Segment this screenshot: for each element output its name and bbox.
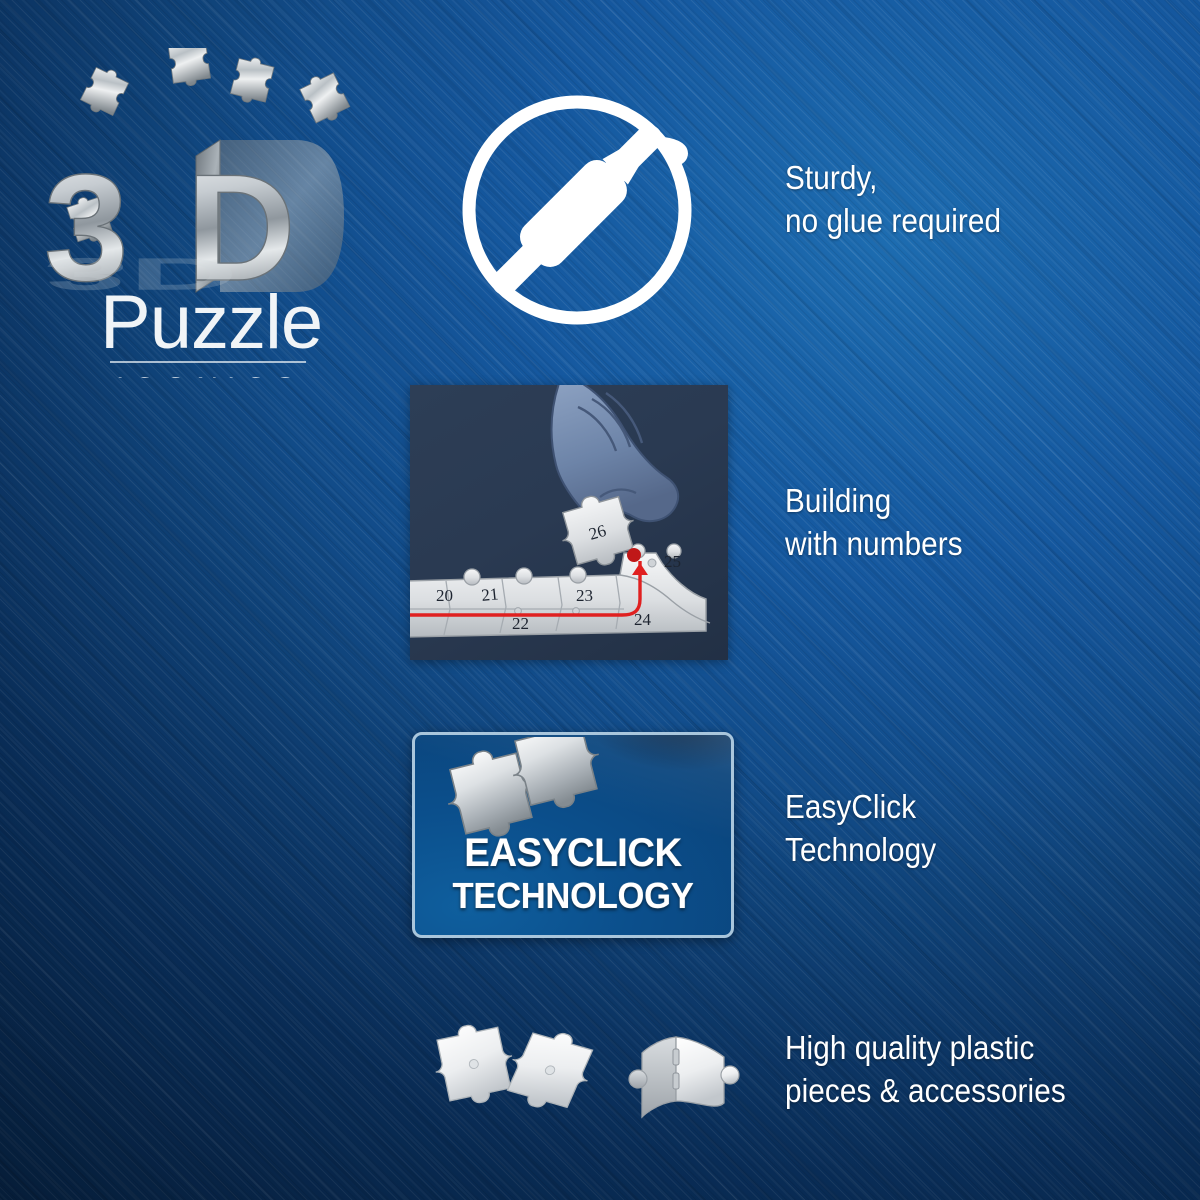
piece-number: 21 — [480, 584, 499, 605]
piece-number: 24 — [634, 610, 652, 629]
easyclick-line2: TECHNOLOGY — [421, 875, 724, 917]
label-easyclick: EasyClick Technology — [785, 786, 953, 872]
easyclick-line1: EASYCLICK — [421, 831, 724, 876]
logo-puzzle-piece — [229, 54, 275, 106]
label-no-glue: Sturdy, no glue required — [785, 157, 1025, 243]
3d-puzzle-iconics-logo: 3 D 3D Puzzle ICONICS — [38, 48, 368, 378]
piece-number: 25 — [664, 552, 681, 571]
building-with-numbers-image: 26 — [410, 385, 728, 660]
label-high-quality-pieces: High quality plastic pieces & accessorie… — [785, 1027, 1097, 1113]
logo-iconics-word: ICONICS — [116, 372, 304, 378]
logo-puzzle-piece — [298, 69, 352, 128]
plastic-pieces-icon — [400, 1005, 740, 1125]
piece-number: 20 — [436, 586, 453, 605]
no-glue-icon — [455, 88, 700, 338]
feature-row-no-glue — [455, 88, 700, 338]
easyclick-badge: EASYCLICK TECHNOLOGY — [412, 732, 734, 938]
assembled-hull: 20 21 22 23 24 25 — [410, 544, 710, 637]
logo-puzzle-piece — [168, 48, 212, 88]
plastic-piece — [496, 1023, 603, 1117]
logo-puzzle-piece — [78, 63, 130, 119]
plastic-piece-hinge — [629, 1037, 739, 1117]
logo-puzzle-word: Puzzle — [100, 280, 322, 365]
piece-number: 22 — [512, 614, 529, 633]
plastic-piece — [428, 1018, 521, 1111]
product-feature-poster: 3 D 3D Puzzle ICONICS — [0, 0, 1200, 1200]
piece-number: 23 — [576, 586, 593, 605]
label-building-with-numbers: Building with numbers — [785, 480, 982, 566]
